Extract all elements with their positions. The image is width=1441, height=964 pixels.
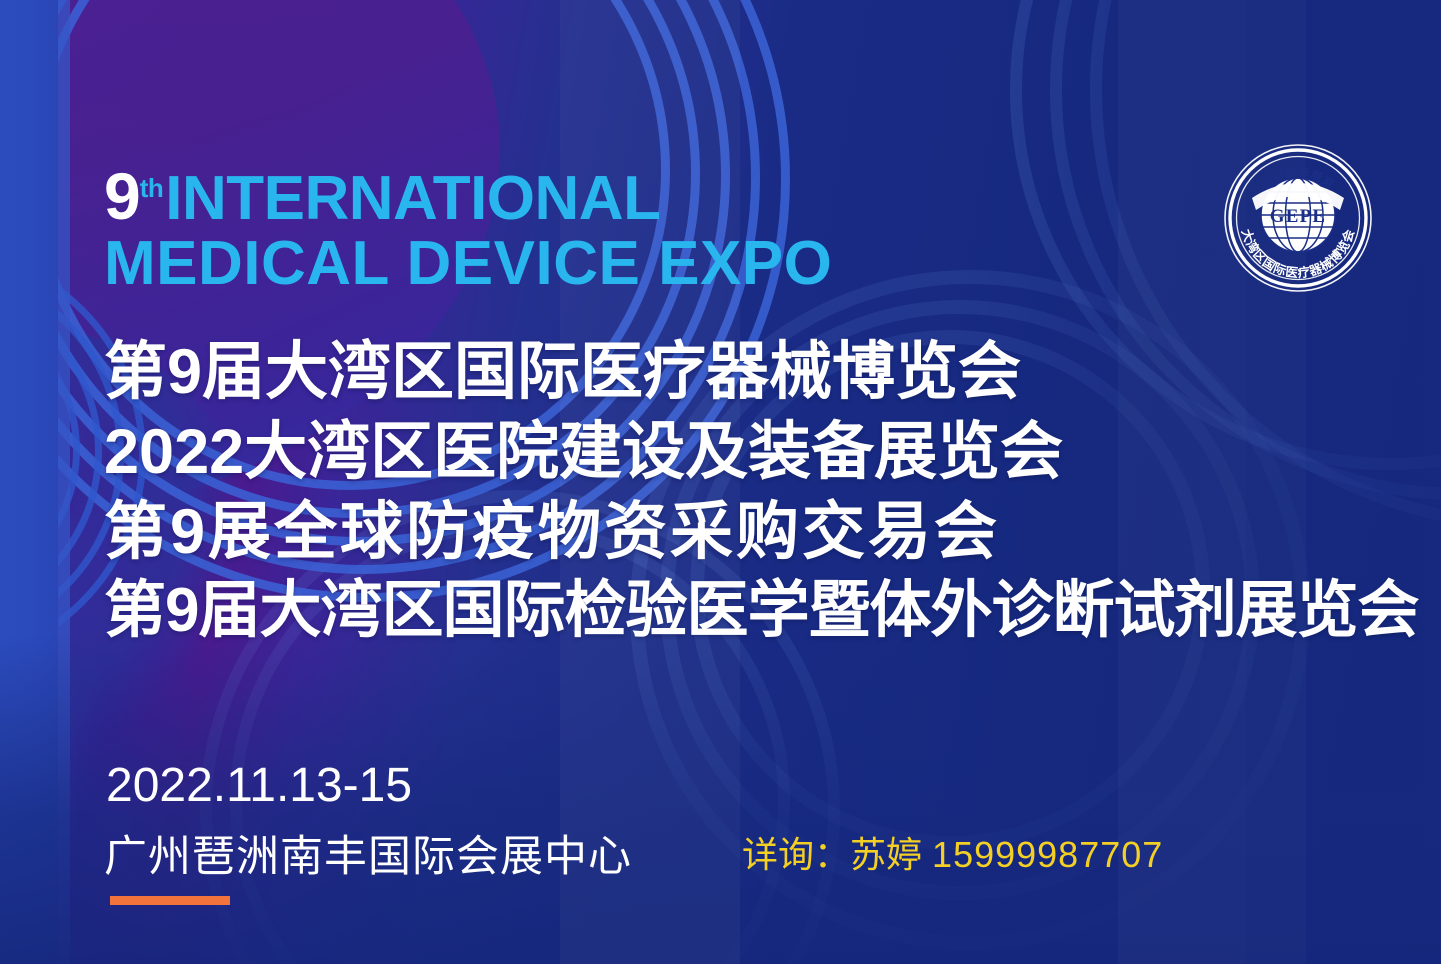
event-venue: 广州琶洲南丰国际会展中心 (104, 822, 632, 884)
logo-acronym: GEPE (1270, 206, 1327, 227)
chinese-title-line-2: 2022大湾区医院建设及装备展览会 (104, 412, 1418, 492)
chinese-title-line-1: 第9届大湾区国际医疗器械博览会 (104, 332, 1418, 412)
event-date: 2022.11.13-15 (106, 758, 412, 813)
edition-ordinal-suffix: th (140, 173, 164, 203)
chinese-title-block: 第9届大湾区国际医疗器械博览会 2022大湾区医院建设及装备展览会 第9展全球防… (104, 332, 1418, 651)
english-title-block: 9thINTERNATIONAL MEDICAL DEVICE EXPO (104, 164, 832, 295)
contact-phone: 15999987707 (932, 834, 1163, 875)
contact-name: 苏婷 (850, 834, 922, 875)
edition-number: 9 (104, 159, 140, 233)
english-title-line2: MEDICAL DEVICE EXPO (104, 234, 832, 295)
gepe-logo: GEPE 创迈国际展览 大湾区国际医疗器械博览会 (1222, 142, 1374, 294)
orange-accent-bar (110, 896, 230, 905)
english-title-main: INTERNATIONAL (165, 164, 660, 233)
chinese-title-line-4: 第9届大湾区国际检验医学暨体外诊断试剂展览会 (104, 572, 1418, 651)
english-title-line1: 9thINTERNATIONAL (104, 164, 832, 230)
contact-label: 详询： (742, 834, 850, 875)
chinese-title-line-3: 第9展全球防疫物资采购交易会 (104, 492, 1418, 572)
expo-banner: 9thINTERNATIONAL MEDICAL DEVICE EXPO 第9届… (0, 0, 1441, 964)
contact-info: 详询：苏婷 15999987707 (742, 826, 1163, 878)
banner-content: 9thINTERNATIONAL MEDICAL DEVICE EXPO 第9届… (0, 0, 1441, 964)
